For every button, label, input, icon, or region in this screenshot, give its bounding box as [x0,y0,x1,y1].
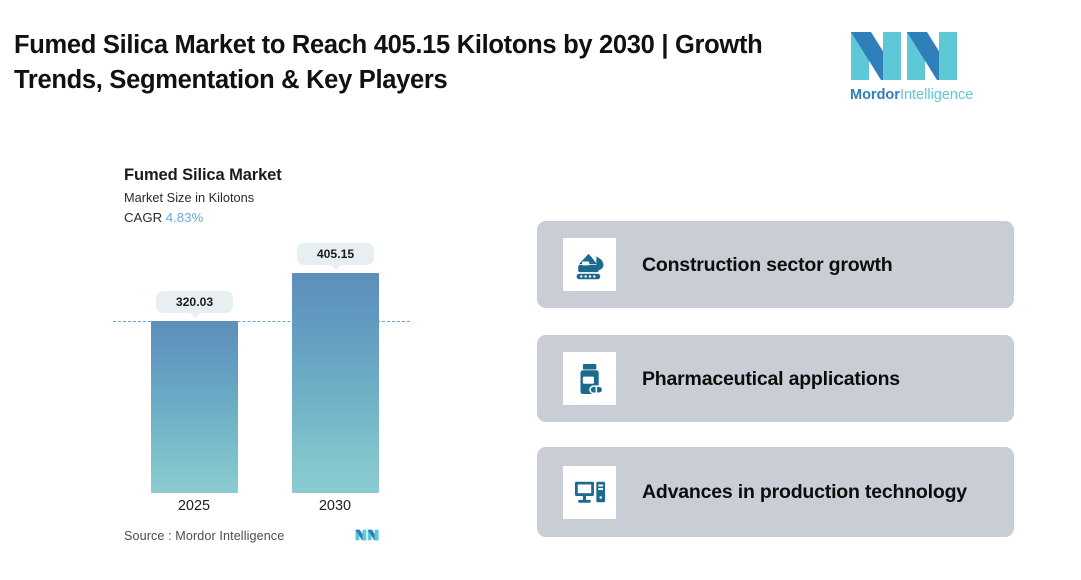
driver-card-label: Advances in production technology [642,478,967,506]
driver-card-construction[interactable]: Construction sector growth [537,221,1014,308]
bar-2030[interactable] [292,273,379,493]
page-title: Fumed Silica Market to Reach 405.15 Kilo… [14,28,814,98]
desktop-computer-icon [563,466,616,519]
x-axis-tick-2025: 2025 [134,498,254,514]
source-mordor-logo-icon [355,526,379,544]
pill-bottle-icon [563,352,616,405]
mordor-logo-wordmark: MordorIntelligence [850,87,973,103]
driver-card-production-technology[interactable]: Advances in production technology [537,447,1014,537]
pill-bottle-icon-glyph [571,360,609,398]
driver-card-pharmaceutical[interactable]: Pharmaceutical applications [537,335,1014,422]
key-drivers-list: Construction sector growth Pharmaceutica… [537,221,1014,537]
header: Fumed Silica Market to Reach 405.15 Kilo… [0,0,1081,120]
chart-source: Source : Mordor Intelligence [124,529,284,543]
bar-chart-plot: 320.03 405.15 2025 2030 [0,120,540,580]
driver-card-label: Construction sector growth [642,251,892,279]
logo-word-mordor: Mordor [850,87,900,103]
bar-value-label-2030: 405.15 [297,243,374,265]
bar-value-label-2025: 320.03 [156,291,233,313]
mordor-intelligence-logo: MordorIntelligence [849,28,969,104]
logo-word-intelligence: Intelligence [900,87,973,103]
infographic-root: Fumed Silica Market to Reach 405.15 Kilo… [0,0,1081,580]
x-axis-tick-2030: 2030 [275,498,395,514]
chart-panel: Fumed Silica Market Market Size in Kilot… [0,120,540,580]
desktop-computer-icon-glyph [571,473,609,511]
bar-2025[interactable] [151,321,238,493]
mordor-logo-mark [849,28,959,84]
driver-card-label: Pharmaceutical applications [642,365,900,393]
excavator-icon [563,238,616,291]
excavator-icon-glyph [571,246,609,284]
